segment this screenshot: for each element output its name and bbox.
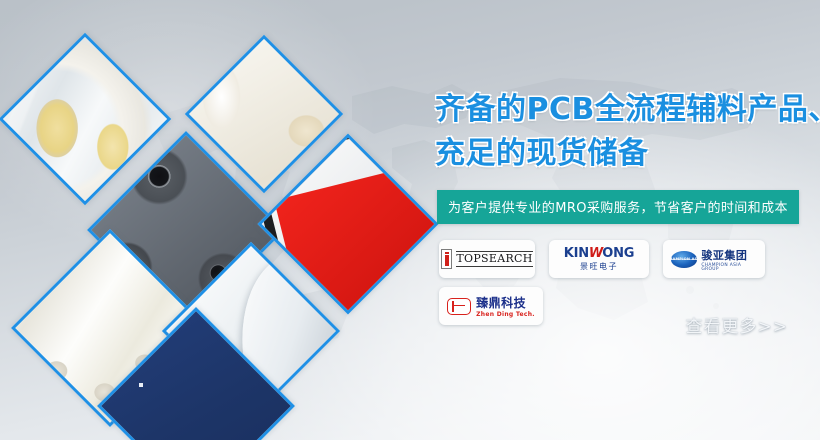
promo-banner: JIE 齐备的PCB全流程辅料产品、 充足的现货储备 为客户提供专业的MRO采购…: [0, 0, 820, 440]
globe-icon-text: CHAMPION ASIA: [671, 257, 697, 261]
zhen-ding-chinese-name: 臻鼎科技: [476, 296, 526, 310]
product-image-collage: JIE: [0, 0, 430, 440]
globe-icon: CHAMPION ASIA: [671, 251, 697, 268]
champion-english-name: CHAMPION ASIA GROUP: [701, 264, 757, 273]
champion-chinese-name: 骏亚集团: [701, 249, 747, 262]
kinwong-chinese-name: 景旺电子: [564, 263, 635, 271]
headline-line-2: 充足的现货储备: [435, 132, 820, 176]
logo-kinwong[interactable]: KINWONG 景旺电子: [549, 240, 649, 278]
kinwong-word-w: W: [589, 246, 602, 261]
kinwong-wordmark: KINWONG: [564, 247, 635, 260]
view-more-link[interactable]: 查看更多>>: [686, 312, 789, 337]
logo-row-1: TOPSEARCH KINWONG 景旺电子 CHAMPION ASIA: [439, 240, 799, 278]
sheet-dot: [139, 383, 143, 387]
banner-headline: 齐备的PCB全流程辅料产品、 充足的现货储备: [435, 88, 820, 177]
banner-subtitle-bar: 为客户提供专业的MRO采购服务，节省客户的时间和成本: [437, 190, 799, 224]
kinwong-word-a: KIN: [564, 246, 589, 261]
kinwong-word-b: ONG: [602, 246, 634, 261]
banner-text-panel: 齐备的PCB全流程辅料产品、 充足的现货储备 为客户提供专业的MRO采购服务，节…: [425, 0, 820, 440]
topsearch-wordmark: TOPSEARCH: [456, 251, 532, 267]
topsearch-mark-icon: [441, 249, 452, 269]
headline-line-1: 齐备的PCB全流程辅料产品、: [435, 92, 820, 127]
logo-topsearch[interactable]: TOPSEARCH: [439, 240, 535, 278]
zhen-ding-mark-icon: [447, 298, 471, 315]
zhen-ding-english-name: Zhen Ding Tech.: [476, 312, 535, 318]
logo-zhen-ding[interactable]: 臻鼎科技 Zhen Ding Tech.: [439, 287, 543, 325]
logo-champion-asia[interactable]: CHAMPION ASIA 骏亚集团 CHAMPION ASIA GROUP: [663, 240, 765, 278]
